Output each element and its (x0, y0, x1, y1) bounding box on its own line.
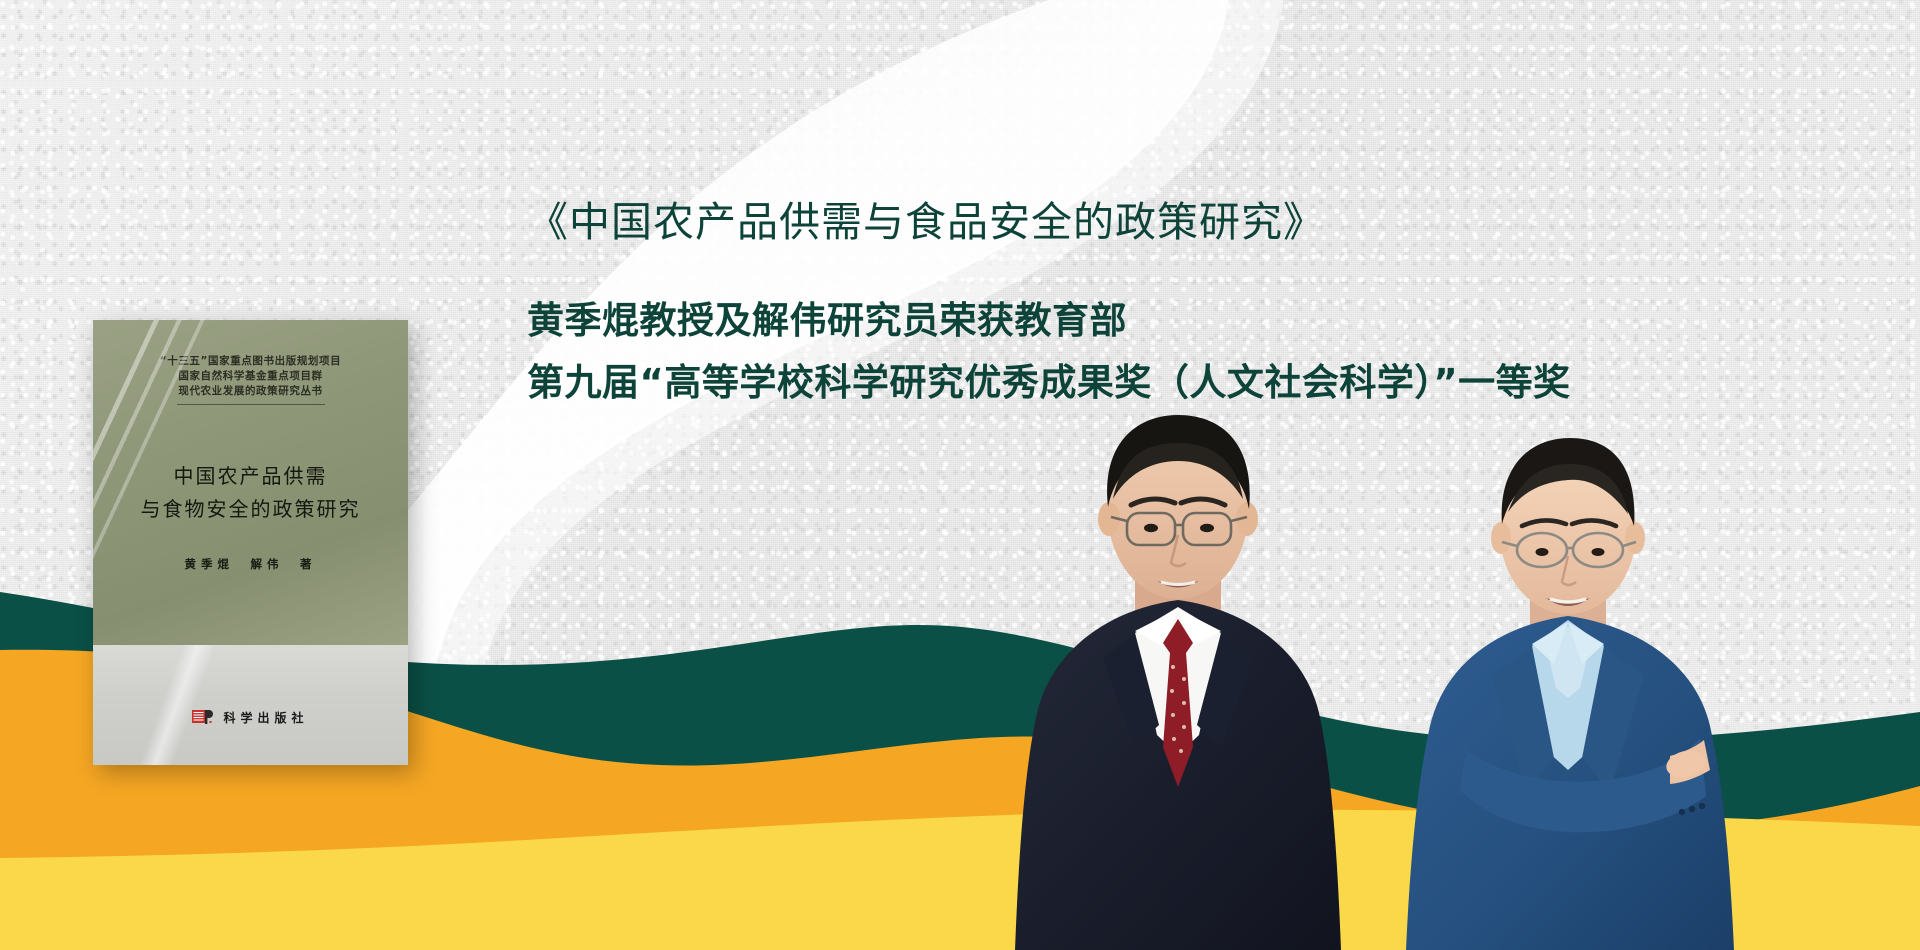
portrait-huang-jikun (985, 395, 1375, 950)
book-cover-upper: “十三五”国家重点图书出版规划项目 国家自然科学基金重点项目群 现代农业发展的政… (93, 320, 408, 645)
publisher-block: 科学出版社 (93, 709, 408, 726)
book-imprint-lines: “十三五”国家重点图书出版规划项目 国家自然科学基金重点项目群 现代农业发展的政… (93, 354, 408, 399)
book-cover: “十三五”国家重点图书出版规划项目 国家自然科学基金重点项目群 现代农业发展的政… (93, 320, 408, 765)
book-cover-authors: 黄季焜 解伟 著 (93, 556, 408, 572)
book-imprint-divider (177, 404, 325, 405)
book-imprint-line-3: 现代农业发展的政策研究丛书 (93, 384, 408, 399)
book-imprint-line-2: 国家自然科学基金重点项目群 (93, 369, 408, 384)
book-cover-title: 中国农产品供需 与食物安全的政策研究 (93, 460, 408, 526)
book-imprint-line-1: “十三五”国家重点图书出版规划项目 (93, 354, 408, 369)
banner-canvas: “十三五”国家重点图书出版规划项目 国家自然科学基金重点项目群 现代农业发展的政… (0, 0, 1920, 950)
headline-block: 《中国农产品供需与食品安全的政策研究》 黄季焜教授及解伟研究员荣获教育部 第九届… (527, 196, 1787, 414)
portrait-xie-wei (1370, 420, 1770, 950)
book-cover-title-line-2: 与食物安全的政策研究 (93, 493, 408, 526)
book-cover-title-line-1: 中国农产品供需 (93, 460, 408, 493)
page-title: 《中国农产品供需与食品安全的政策研究》 (527, 196, 1787, 248)
science-press-logo-icon (192, 709, 214, 726)
publisher-name: 科学出版社 (223, 709, 308, 726)
book-cover-lower: 科学出版社 (93, 645, 408, 765)
award-line-1: 黄季焜教授及解伟研究员荣获教育部 (527, 290, 1787, 352)
